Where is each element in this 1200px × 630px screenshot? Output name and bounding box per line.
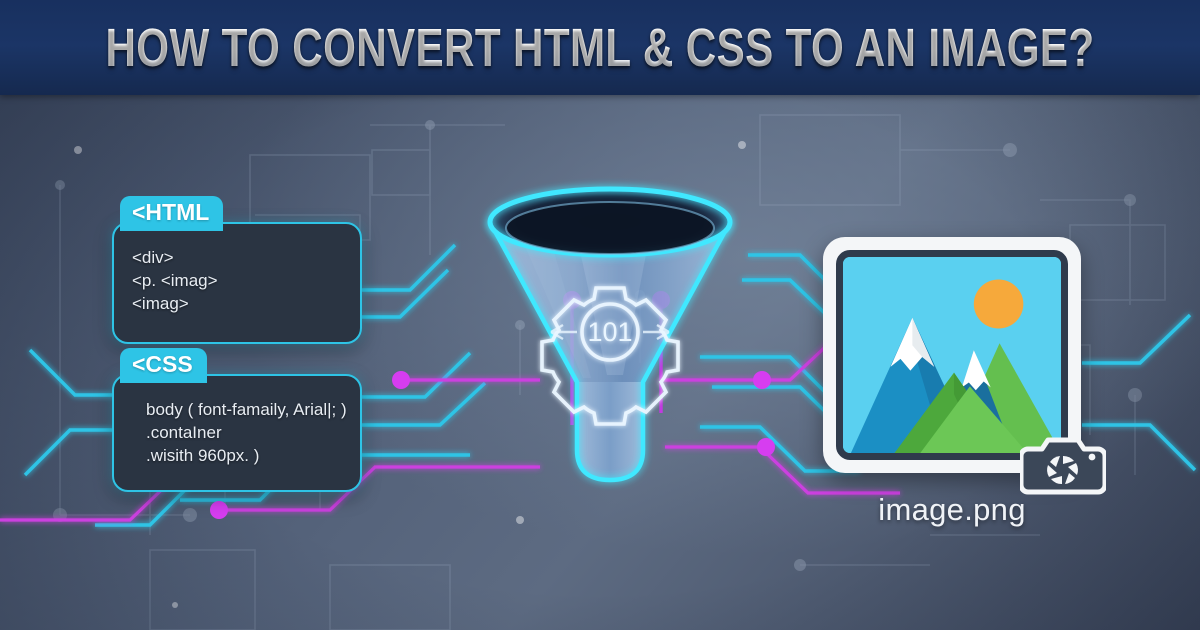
html-code-card[interactable]: <HTML <div> <p. <imag> <imag> [112, 222, 362, 344]
gear-label: 101 [587, 317, 632, 347]
css-code-line: .wisith 960px. ) [146, 444, 346, 467]
css-card-tab: <CSS [120, 348, 207, 383]
html-card-tab: <HTML [120, 196, 223, 231]
html-code-line: <div> [132, 246, 346, 269]
css-code-line: .contaIner [146, 421, 346, 444]
camera-icon [1020, 429, 1106, 499]
html-code-line: <p. <imag> [132, 269, 346, 292]
funnel-graphic: 101 [455, 150, 765, 510]
landscape-photo [843, 257, 1061, 453]
poster-canvas: HOW TO CONVERT HTML & CSS TO AN IMAGE? [0, 0, 1200, 630]
header-banner: HOW TO CONVERT HTML & CSS TO AN IMAGE? [0, 0, 1200, 95]
html-code-lines: <div> <p. <imag> <imag> [114, 224, 360, 329]
css-code-lines: body ( font-famaily, Arial|; ) .contaIne… [114, 376, 360, 481]
output-caption: image.png [823, 492, 1081, 528]
css-code-card[interactable]: <CSS body ( font-famaily, Arial|; ) .con… [112, 374, 362, 492]
html-code-line: <imag> [132, 292, 346, 315]
css-code-line: body ( font-famaily, Arial|; ) [146, 398, 346, 421]
sun-icon [974, 280, 1024, 329]
output-image-card[interactable] [823, 237, 1081, 473]
page-title: HOW TO CONVERT HTML & CSS TO AN IMAGE? [105, 17, 1094, 79]
